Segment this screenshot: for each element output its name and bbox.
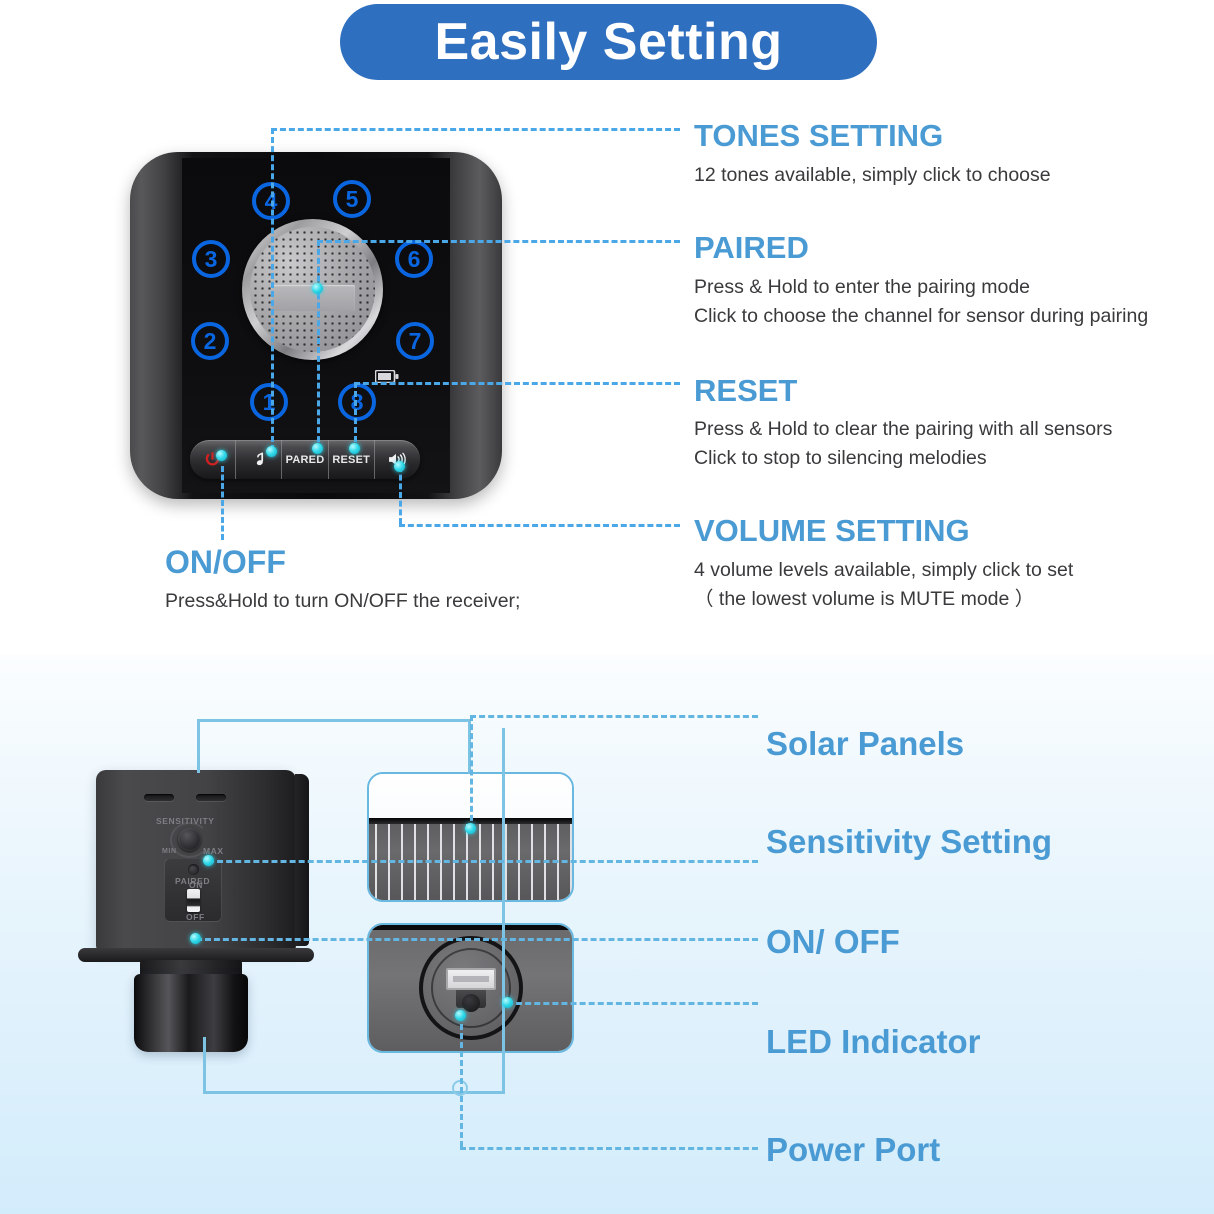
dashed-solar-horizontal (470, 715, 758, 718)
sensor-off-label: OFF (186, 912, 205, 922)
connector-paired-vertical (317, 240, 320, 451)
connector-volume-vertical (399, 466, 402, 524)
cyan-dot-pared (312, 443, 323, 454)
label-on-off: ON/ OFF (766, 925, 900, 958)
connector-tones-vertical (271, 128, 274, 451)
sensor-section: SENSITIVITY MIN MAX PAIRED ON OFF (0, 655, 1214, 1214)
receiver-number-1: 1 (250, 383, 288, 421)
sensitivity-min-label: MIN (162, 848, 177, 855)
cyan-dot-grille (312, 283, 323, 294)
callout-line-tones-1: 12 tones available, simply click to choo… (694, 161, 1051, 190)
paired-led-icon (188, 864, 199, 875)
dashed-solar-vertical (470, 715, 473, 830)
label-led-indicator: LED Indicator (766, 1025, 981, 1058)
callout-line-reset-2: Click to stop to silencing melodies (694, 444, 987, 473)
cyan-dot-power (216, 450, 227, 461)
receiver-number-2: 2 (191, 322, 229, 360)
connector-bottom-left-leg (203, 1037, 206, 1094)
port-outer-ring (419, 936, 523, 1040)
cyan-dot-volume (394, 461, 405, 472)
label-sensitivity-setting: Sensitivity Setting (766, 825, 1052, 858)
connector-bottom-right-leg (502, 728, 505, 1094)
callout-heading-tones: TONES SETTING (694, 120, 943, 151)
onoff-toggle-switch[interactable] (187, 889, 200, 912)
cyan-dot-sensitivity (203, 855, 214, 866)
usb-port-icon (446, 968, 496, 990)
receiver-number-3: 3 (192, 240, 230, 278)
music-note-icon (252, 452, 265, 467)
callout-heading-paired: PAIRED (694, 232, 809, 263)
tone-button[interactable] (236, 440, 282, 479)
callout-line-paired-2: Click to choose the channel for sensor d… (694, 302, 1148, 331)
callout-line-reset-1: Press & Hold to clear the pairing with a… (694, 415, 1112, 444)
dashed-led-horizontal (507, 1002, 758, 1005)
power-button[interactable] (190, 440, 236, 479)
receiver-number-5: 5 (333, 180, 371, 218)
callout-line-volume-1: 4 volume levels available, simply click … (694, 556, 1073, 585)
callout-line-onoff-1: Press&Hold to turn ON/OFF the receiver; (165, 587, 520, 616)
volume-button[interactable] (375, 440, 420, 479)
power-port-hole (462, 994, 480, 1012)
connector-reset-horizontal (354, 382, 680, 385)
callout-heading-reset: RESET (694, 375, 797, 406)
detail-box-power-port (367, 923, 574, 1053)
callout-heading-volume: VOLUME SETTING (694, 515, 970, 546)
sensor-cylinder (134, 974, 248, 1052)
connector-top-bracket (197, 719, 471, 722)
usb-port-slot (453, 976, 489, 982)
page-title-pill: Easily Setting (340, 4, 877, 80)
callout-heading-onoff: ON/OFF (165, 546, 286, 578)
cyan-dot-onoff (190, 933, 201, 944)
connector-paired-horizontal (317, 240, 680, 243)
callout-line-volume-2: （ the lowest volume is MUTE mode ） (694, 585, 1034, 614)
connector-tones-horizontal (271, 128, 680, 131)
sensor-slot-right (196, 794, 226, 801)
label-power-port: Power Port (766, 1133, 940, 1166)
cyan-dot-reset (349, 443, 360, 454)
port-top-edge (369, 925, 572, 930)
connector-top-left-leg (197, 719, 200, 773)
page-title: Easily Setting (435, 16, 783, 68)
sensitivity-knob[interactable] (178, 828, 201, 851)
connector-volume-horizontal (399, 524, 680, 527)
dashed-onoff-horizontal (196, 938, 758, 941)
dashed-sensitivity-horizontal (208, 860, 758, 863)
callout-line-paired-1: Press & Hold to enter the pairing mode (694, 273, 1030, 302)
receiver-number-8: 8 (338, 383, 376, 421)
label-solar-panels: Solar Panels (766, 727, 964, 760)
sensor-slot-left (144, 794, 174, 801)
dashed-powerport-vertical (460, 1015, 463, 1147)
cyan-dot-led (502, 997, 513, 1008)
receiver-section: Easily Setting 1 2 3 4 5 6 7 8 (0, 0, 1214, 655)
cyan-dot-power-port (455, 1010, 466, 1021)
connector-onoff-vertical (221, 466, 224, 540)
switch-panel: PAIRED ON OFF (164, 858, 222, 922)
cyan-dot-tone (266, 446, 277, 457)
connector-reset-vertical (354, 382, 357, 451)
receiver-number-6: 6 (395, 240, 433, 278)
receiver-number-7: 7 (396, 322, 434, 360)
dashed-powerport-horizontal (460, 1147, 758, 1150)
cyan-dot-solar (465, 823, 476, 834)
